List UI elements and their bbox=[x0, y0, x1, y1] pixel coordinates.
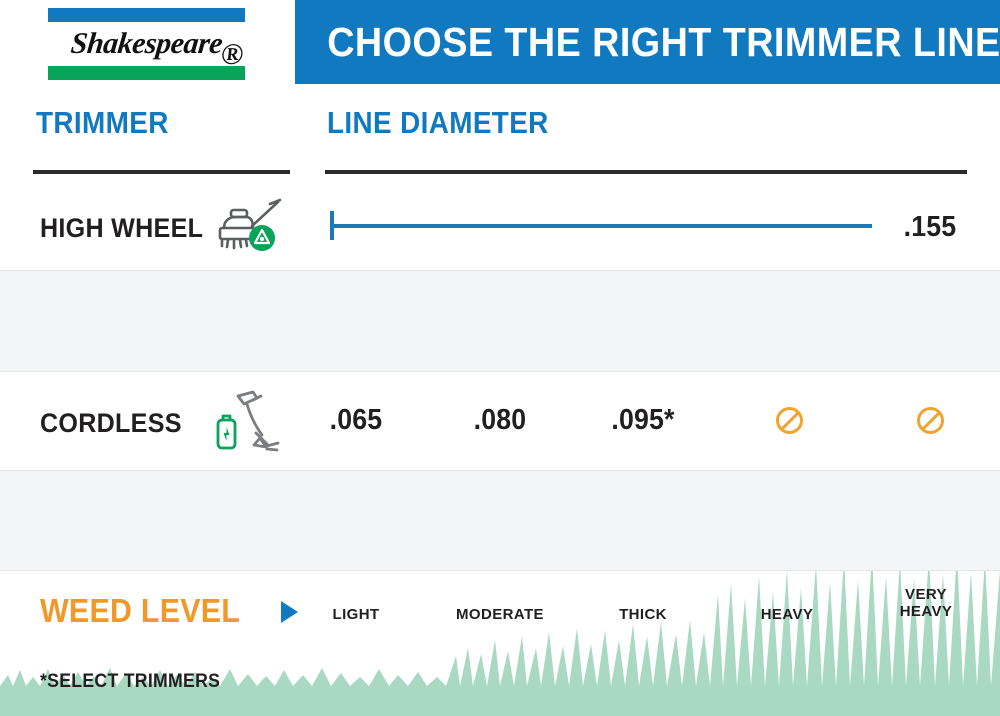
table-row bbox=[0, 182, 1000, 270]
table-row bbox=[0, 471, 1000, 570]
infographic-page: Shakespeare ® CHOOSE THE RIGHT TRIMMER L… bbox=[0, 0, 1000, 716]
header-banner: CHOOSE THE RIGHT TRIMMER LINE bbox=[295, 0, 1000, 84]
weed-level-heavy: HEAVY bbox=[727, 606, 847, 623]
footnote-select-trimmers: *SELECT TRIMMERS bbox=[40, 671, 220, 693]
logo-bar-top bbox=[48, 8, 245, 22]
logo-wordmark-text: Shakespeare bbox=[69, 27, 224, 61]
weed-level-very-heavy: VERY HEAVY bbox=[866, 586, 986, 621]
page-title: CHOOSE THE RIGHT TRIMMER LINE bbox=[295, 19, 1000, 66]
brand-logo: Shakespeare ® bbox=[48, 8, 245, 80]
logo-wordmark: Shakespeare ® bbox=[48, 22, 245, 66]
column-header-line-diameter: LINE DIAMETER bbox=[327, 105, 549, 141]
weed-level-moderate: MODERATE bbox=[440, 606, 560, 623]
trimmer-header-rule bbox=[33, 170, 290, 174]
diameter-header-rule bbox=[325, 170, 967, 174]
column-header-trimmer: TRIMMER bbox=[36, 105, 169, 141]
table-row bbox=[0, 372, 1000, 470]
row-divider bbox=[0, 570, 1000, 571]
weed-level-light: LIGHT bbox=[296, 606, 416, 623]
logo-bar-bottom bbox=[48, 66, 245, 80]
weed-level-label: WEED LEVEL bbox=[40, 592, 240, 630]
table-row bbox=[0, 271, 1000, 371]
weed-level-thick: THICK bbox=[583, 606, 703, 623]
